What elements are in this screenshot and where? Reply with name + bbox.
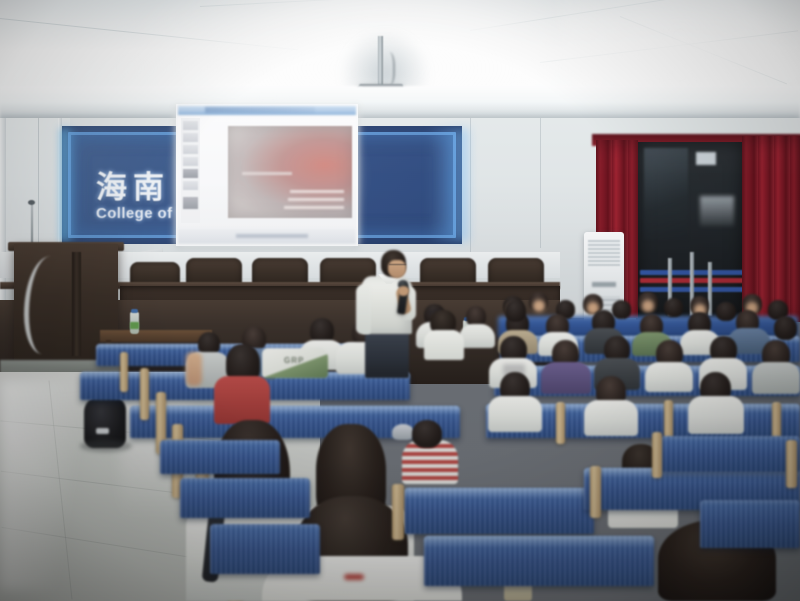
slide-thumbnail <box>183 133 198 142</box>
door-glass-panel <box>644 148 688 240</box>
slide-body-text <box>290 190 344 193</box>
ac-brand-label <box>592 282 616 287</box>
seat-arm-post <box>652 432 662 478</box>
presenter-face <box>388 260 406 278</box>
audience-face <box>533 300 545 312</box>
bottle-cap <box>131 309 138 313</box>
seat-arm-post <box>140 368 149 420</box>
bag-logo-text: GRP <box>284 356 304 365</box>
slide-thumbnail <box>183 169 198 178</box>
audience-torso <box>424 330 464 360</box>
audience-torso <box>214 376 270 424</box>
seat-arm-post <box>556 402 565 444</box>
seat-arm-post <box>120 352 128 392</box>
presenter-left-arm <box>356 284 371 334</box>
microphone-icon <box>28 200 35 205</box>
audience-torso <box>541 362 591 394</box>
seat-highlight <box>404 488 594 499</box>
front-table <box>100 330 212 342</box>
slide-body-text <box>288 198 344 201</box>
lecture-hall-photo: 海南 术学院 College of In nan University <box>0 0 800 601</box>
screen-title-text <box>205 107 315 113</box>
backpack-label <box>96 428 109 434</box>
seat-row[interactable] <box>180 478 310 518</box>
slide-title-text <box>242 172 292 175</box>
glasses-icon <box>389 264 406 269</box>
ac-grille <box>588 240 620 266</box>
audience-torso <box>645 362 693 392</box>
slide-thumbnail <box>183 157 198 166</box>
tshirt-logo <box>344 574 364 580</box>
bare-shoulder <box>186 352 202 386</box>
wall-seam <box>540 118 541 248</box>
seat-row[interactable] <box>210 524 320 574</box>
seat-arm-post <box>590 466 601 518</box>
seat-row[interactable] <box>160 440 280 474</box>
audience-head <box>505 300 526 322</box>
seat-highlight <box>424 536 654 548</box>
audience-head <box>612 300 631 319</box>
bottle-label <box>130 322 139 329</box>
presenter-legs <box>365 330 409 378</box>
slide-thumbnail <box>183 181 198 190</box>
seat-arm-post <box>392 484 404 540</box>
audience-head <box>774 316 797 340</box>
presenter-hand <box>398 286 409 296</box>
seat-arm-post <box>786 440 797 488</box>
audience-head <box>412 420 442 448</box>
wall-seam <box>470 118 471 268</box>
hair-clip <box>392 424 414 440</box>
audience-torso <box>584 400 638 436</box>
projector-cable <box>381 52 395 86</box>
door-light-patch <box>696 152 716 165</box>
screen-status-text <box>236 234 308 238</box>
door-light-patch <box>700 196 734 226</box>
audience-torso <box>688 396 744 434</box>
seat-row[interactable] <box>700 500 800 548</box>
backpack-shadow <box>80 440 132 452</box>
audience-head <box>716 302 736 321</box>
audience-torso <box>752 362 800 394</box>
seat-highlight <box>130 406 460 415</box>
audience-torso <box>488 396 542 432</box>
seat-row[interactable] <box>660 436 800 472</box>
slide-thumbnail <box>183 121 198 130</box>
slide-thumbnail <box>183 145 198 154</box>
lectern-leg <box>72 252 81 356</box>
slide-thumbnail-selected <box>183 197 198 209</box>
slide-body-text <box>284 206 344 209</box>
audience-head <box>664 298 683 317</box>
audience-torso <box>459 324 495 348</box>
audience-face <box>642 300 654 312</box>
